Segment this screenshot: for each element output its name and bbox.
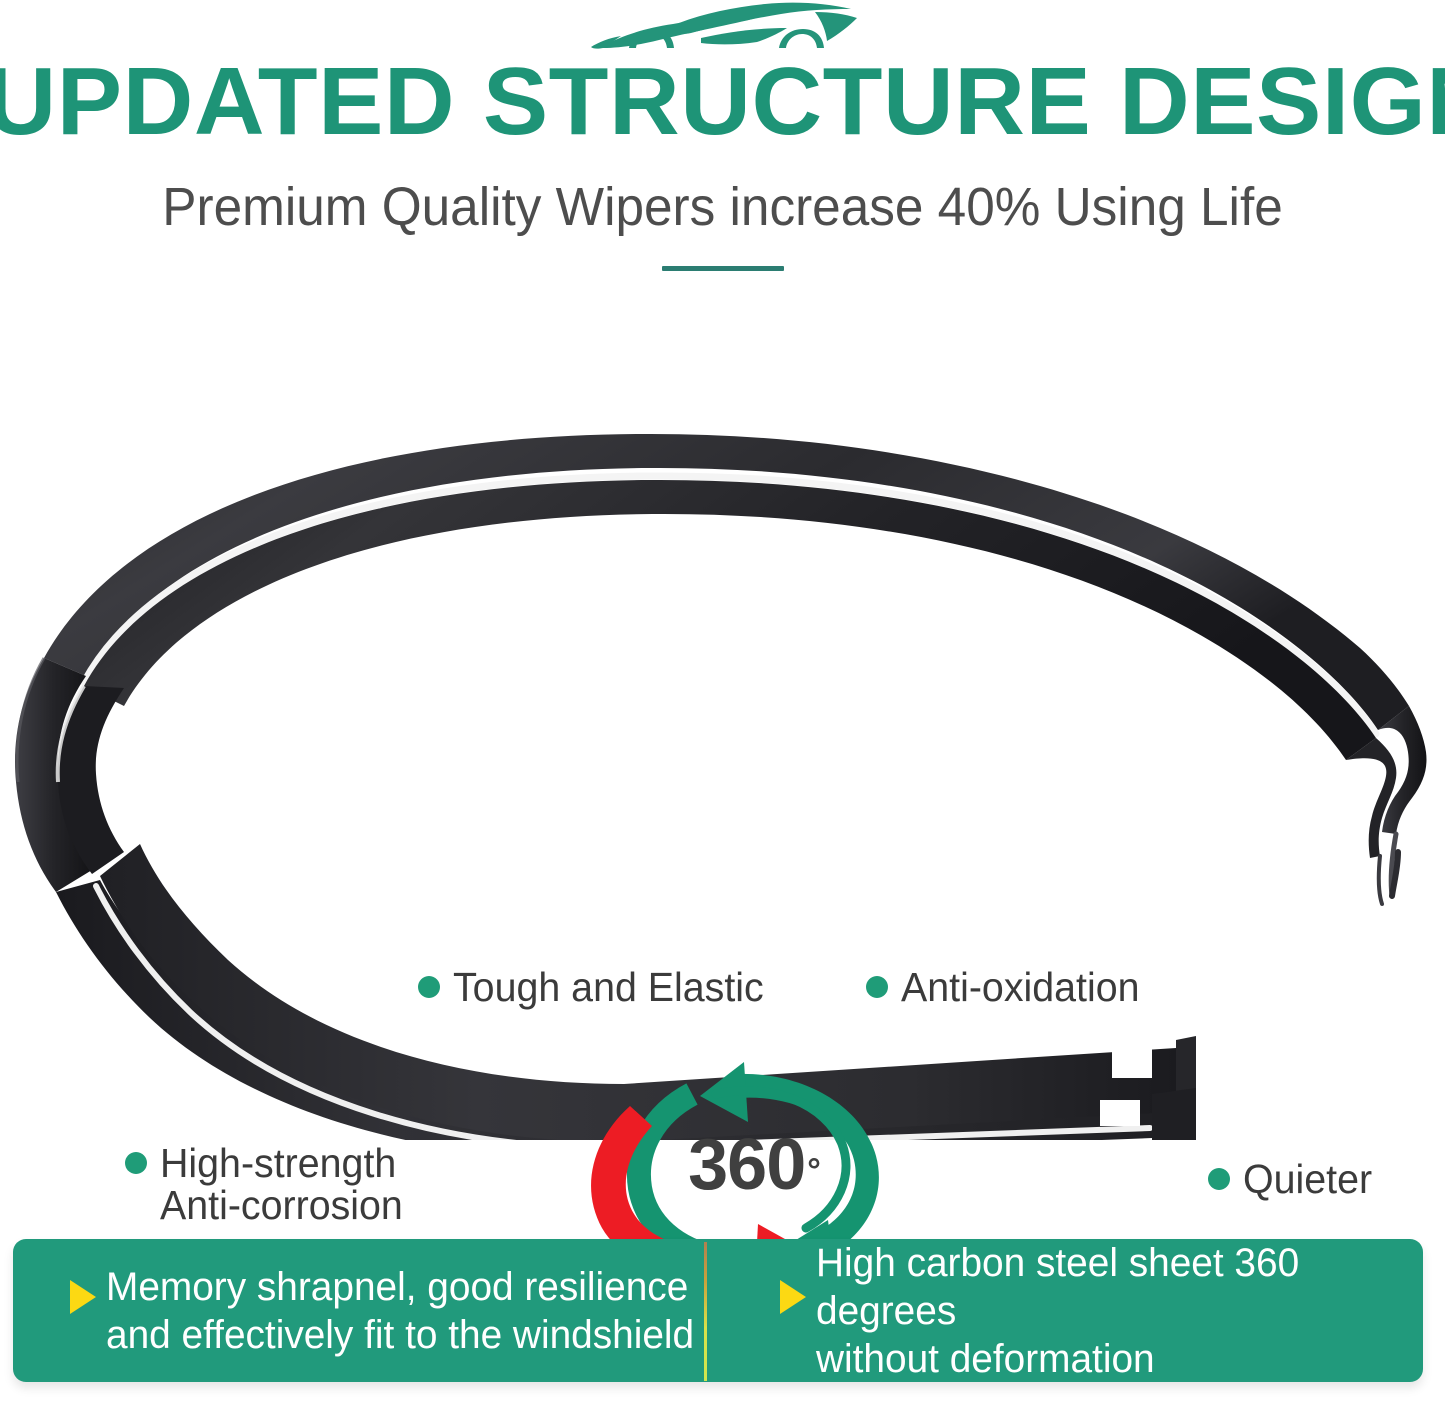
feature-label-text: High-strength Anti-corrosion	[160, 1142, 403, 1226]
header-block: UPDATED STRUCTURE DESIGN Premium Quality…	[0, 0, 1445, 300]
bullet-dot-icon	[866, 976, 888, 998]
benefits-banner: Memory shrapnel, good resilience and eff…	[13, 1239, 1423, 1382]
benefit-item-high-carbon-steel: High carbon steel sheet 360 degrees with…	[718, 1239, 1423, 1382]
banner-vertical-divider	[704, 1242, 707, 1381]
page-subtitle: Premium Quality Wipers increase 40% Usin…	[36, 176, 1409, 238]
feature-label-anti-oxidation: Anti-oxidation	[866, 966, 1149, 1008]
bullet-dot-icon	[1208, 1168, 1230, 1190]
wiper-blade-steel-strips-illustration	[0, 400, 1445, 1140]
feature-label-tough-and-elastic: Tough and Elastic	[418, 966, 777, 1008]
feature-label-text: Anti-oxidation	[901, 966, 1140, 1008]
benefit-item-text: High carbon steel sheet 360 degrees with…	[816, 1239, 1405, 1383]
play-arrow-icon	[780, 1280, 806, 1314]
feature-label-high-strength-anti-corrosion: High-strength Anti-corrosion	[125, 1142, 413, 1226]
feature-label-text: Quieter	[1243, 1158, 1372, 1200]
benefit-item-text: Memory shrapnel, good resilience and eff…	[106, 1263, 694, 1359]
feature-label-quieter: Quieter	[1208, 1158, 1377, 1200]
product-stage: High-strength Anti-corrosion Tough and E…	[0, 400, 1445, 1140]
benefit-item-memory-shrapnel: Memory shrapnel, good resilience and eff…	[13, 1239, 718, 1382]
play-arrow-icon	[70, 1280, 96, 1314]
page-title: UPDATED STRUCTURE DESIGN	[0, 52, 1445, 152]
bullet-dot-icon	[418, 976, 440, 998]
bullet-dot-icon	[125, 1152, 147, 1174]
title-divider	[662, 266, 784, 271]
feature-label-text: Tough and Elastic	[453, 966, 764, 1008]
